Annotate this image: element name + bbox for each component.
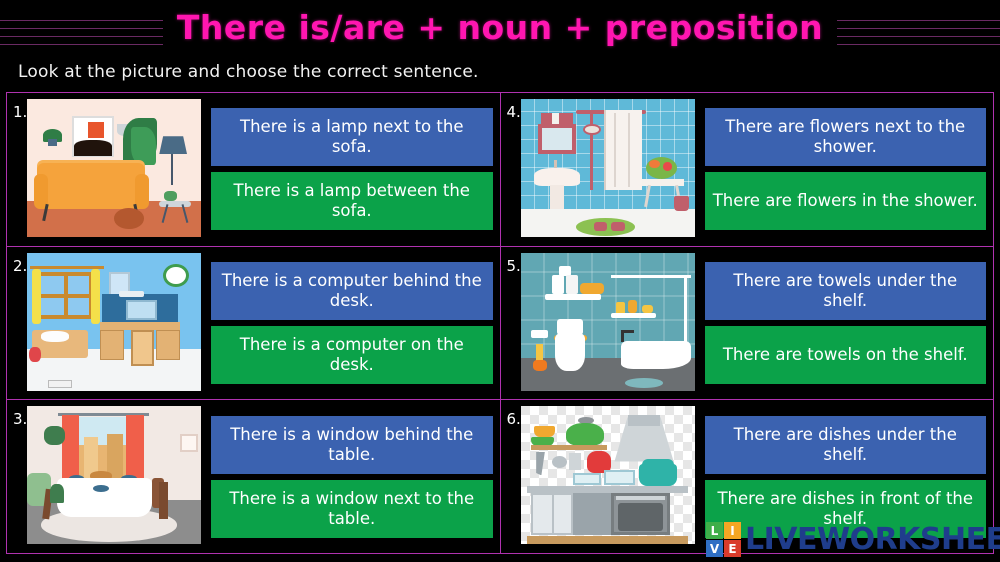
option-green[interactable]: There is a window next to the table.	[211, 480, 493, 538]
option-green[interactable]: There are towels on the shelf.	[705, 326, 987, 384]
page-title-text: There is/are + noun + preposition	[163, 8, 837, 47]
answer-options: There is a computer behind the desk. The…	[201, 251, 497, 396]
option-blue[interactable]: There is a window behind the table.	[211, 416, 493, 474]
page-title: There is/are + noun + preposition	[0, 8, 1000, 47]
answer-options: There are dishes under the shelf. There …	[695, 404, 991, 549]
question-number: 5.	[503, 251, 521, 396]
answer-options: There is a lamp next to the sofa. There …	[201, 97, 497, 242]
option-blue[interactable]: There are dishes under the shelf.	[705, 416, 987, 474]
option-blue[interactable]: There is a computer behind the desk.	[211, 262, 493, 320]
exercise-cell-1: 1.	[7, 93, 501, 246]
option-blue[interactable]: There is a lamp next to the sofa.	[211, 108, 493, 166]
exercise-row: 1.	[7, 93, 993, 247]
exercise-picture-bathroom-shelf	[521, 253, 695, 391]
option-green[interactable]: There are dishes in front of the shelf.	[705, 480, 987, 538]
exercise-picture-bathroom-shower	[521, 99, 695, 237]
answer-options: There are flowers next to the shower. Th…	[695, 97, 991, 242]
option-green[interactable]: There is a lamp between the sofa.	[211, 172, 493, 230]
exercise-cell-5: 5.	[501, 247, 994, 400]
exercise-grid: 1.	[6, 92, 994, 554]
question-number: 6.	[503, 404, 521, 549]
exercise-row: 2. There is	[7, 247, 993, 401]
worksheet-page: There is/are + noun + preposition Look a…	[0, 0, 1000, 562]
instruction-text: Look at the picture and choose the corre…	[18, 62, 479, 82]
exercise-picture-bedroom-desk	[27, 253, 201, 391]
option-green[interactable]: There are flowers in the shower.	[705, 172, 987, 230]
exercise-picture-kitchen	[521, 406, 695, 544]
answer-options: There are towels under the shelf. There …	[695, 251, 991, 396]
question-number: 4.	[503, 97, 521, 242]
worksheet-header: There is/are + noun + preposition	[0, 0, 1000, 60]
question-number: 1.	[9, 97, 27, 242]
option-blue[interactable]: There are towels under the shelf.	[705, 262, 987, 320]
exercise-cell-3: 3. There is a window behind the table. T	[7, 400, 501, 553]
question-number: 2.	[9, 251, 27, 396]
option-blue[interactable]: There are flowers next to the shower.	[705, 108, 987, 166]
exercise-cell-6: 6.	[501, 400, 994, 553]
exercise-row: 3. There is a window behind the table. T	[7, 400, 993, 553]
exercise-picture-dining-room	[27, 406, 201, 544]
answer-options: There is a window behind the table. Ther…	[201, 404, 497, 549]
exercise-cell-2: 2. There is	[7, 247, 501, 400]
exercise-cell-4: 4.	[501, 93, 994, 246]
exercise-picture-living-room	[27, 99, 201, 237]
question-number: 3.	[9, 404, 27, 549]
option-green[interactable]: There is a computer on the desk.	[211, 326, 493, 384]
